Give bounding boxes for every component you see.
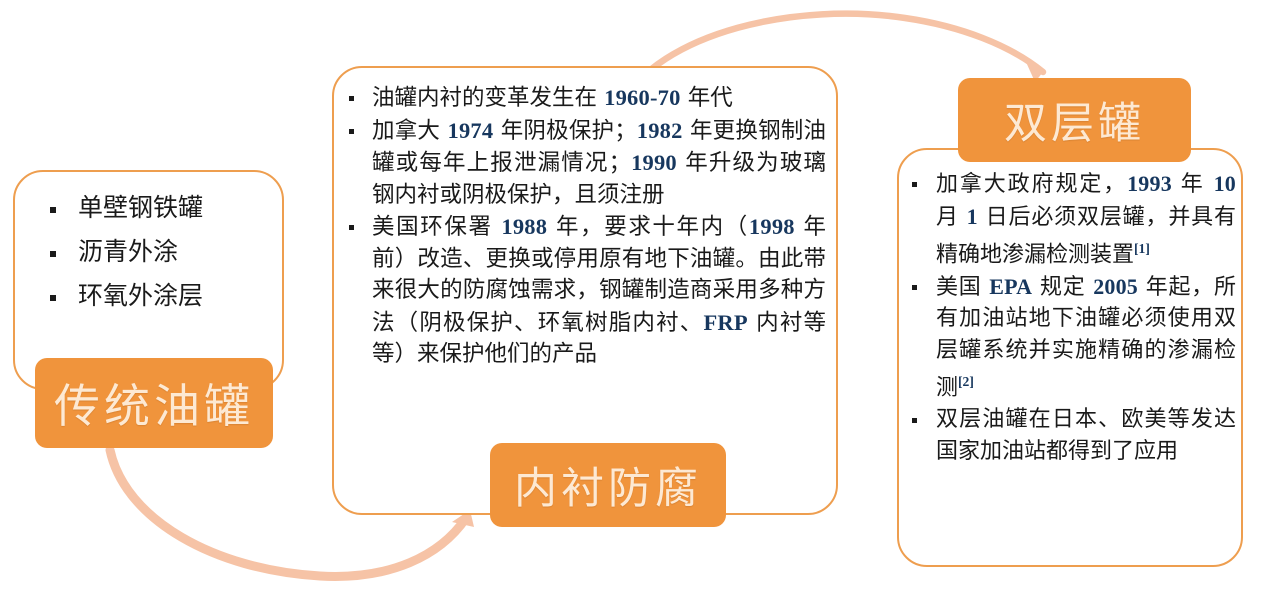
list-item: 美国 EPA 规定 2005 年起，所有加油站地下油罐必须使用双层罐系统并实施精… [908,271,1236,404]
list-item: 沥青外涂 [44,230,274,274]
diagram-canvas: 单壁钢铁罐 沥青外涂 环氧外涂层 传统油罐 油罐内衬的变革发生在 1960-70… [0,0,1264,589]
list-item: 油罐内衬的变革发生在 1960-70 年代 [346,82,826,115]
list-item: 加拿大政府规定，1993 年 10 月 1 日后必须双层罐，并具有精确地渗漏检测… [908,168,1236,271]
caption-tile-double-wall-tank: 双层罐 [958,78,1191,162]
list-item: 美国环保署 1988 年，要求十年内（1998 年前）改造、更换或停用原有地下油… [346,211,826,371]
caption-tile-lining-anticorrosion: 内衬防腐 [490,443,726,527]
list-item: 单壁钢铁罐 [44,186,274,230]
bullet-list-double-wall: 加拿大政府规定，1993 年 10 月 1 日后必须双层罐，并具有精确地渗漏检测… [908,168,1236,467]
list-item: 环氧外涂层 [44,274,274,318]
bullet-list-traditional: 单壁钢铁罐 沥青外涂 环氧外涂层 [44,186,274,318]
list-item: 双层油罐在日本、欧美等发达国家加油站都得到了应用 [908,404,1236,467]
caption-tile-traditional-tank: 传统油罐 [35,358,273,448]
bullet-list-lining: 油罐内衬的变革发生在 1960-70 年代 加拿大 1974 年阴极保护；198… [346,82,826,371]
list-item: 加拿大 1974 年阴极保护；1982 年更换钢制油罐或每年上报泄漏情况；199… [346,115,826,212]
